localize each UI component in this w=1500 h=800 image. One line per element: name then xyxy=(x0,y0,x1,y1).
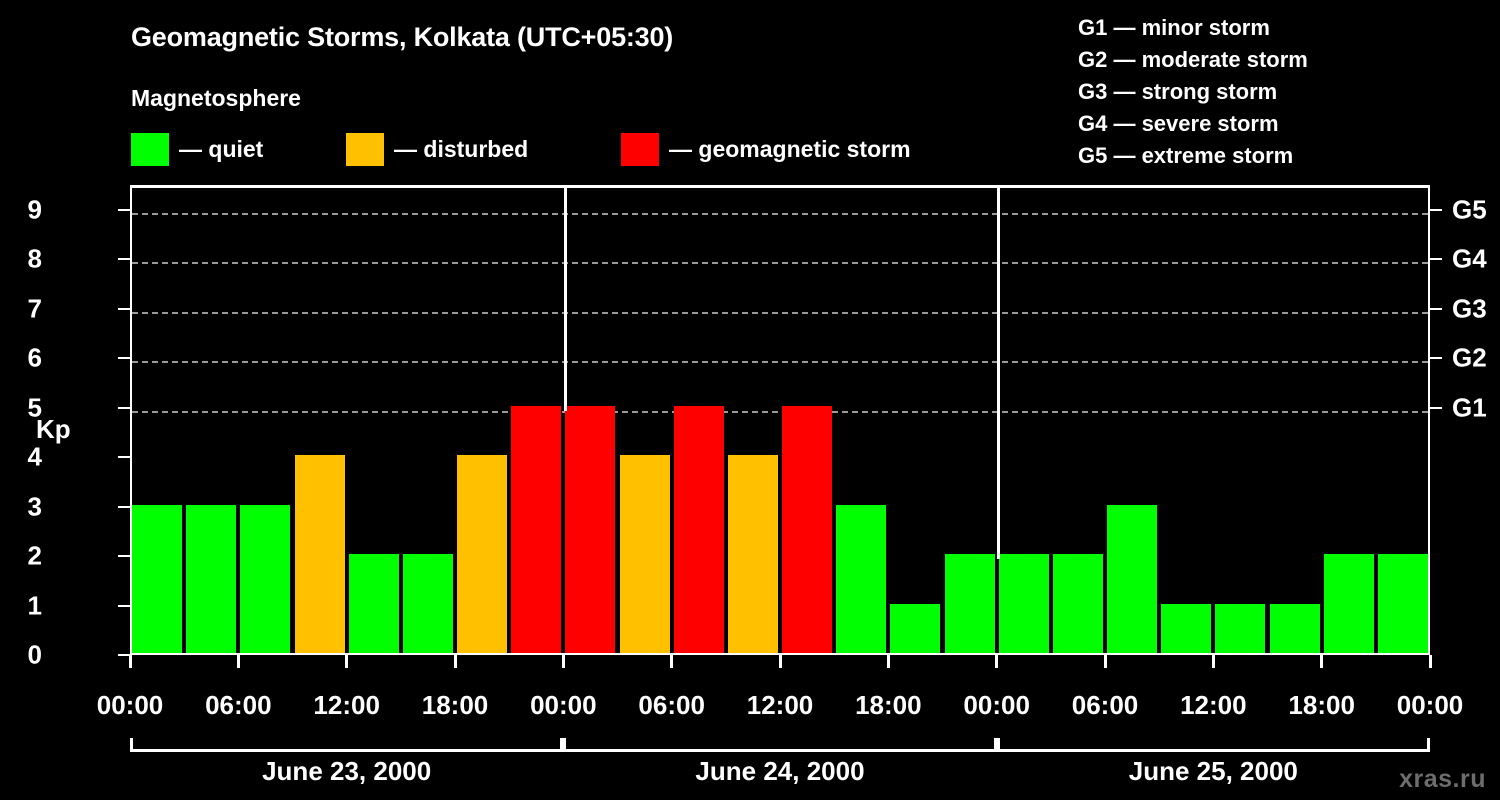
plot-area xyxy=(132,188,1428,653)
bar-kp xyxy=(1270,604,1320,653)
bar-kp xyxy=(782,406,832,653)
y-tick-label-0: 0 xyxy=(2,640,42,671)
g-scale-legend: G1 — minor stormG2 — moderate stormG3 — … xyxy=(1078,12,1308,172)
bar-kp xyxy=(403,554,453,653)
y-tick-label-8: 8 xyxy=(2,244,42,275)
x-tick-mark xyxy=(995,655,998,668)
y-tick-label-3: 3 xyxy=(2,491,42,522)
x-tick-mark xyxy=(1429,655,1432,668)
x-tick-mark xyxy=(237,655,240,668)
y-tick-mark-5 xyxy=(118,407,130,409)
bar-kp xyxy=(295,455,345,653)
x-tick-mark xyxy=(129,655,132,668)
x-tick-mark xyxy=(670,655,673,668)
y-tick-mark-6 xyxy=(118,357,130,359)
bar-kp xyxy=(565,406,615,653)
day-divider xyxy=(997,188,1000,559)
g-legend-row-g1: G1 — minor storm xyxy=(1078,12,1308,44)
bar-kp xyxy=(186,505,236,653)
watermark: xras.ru xyxy=(1399,765,1486,794)
g-tick-label-g4: G4 xyxy=(1452,244,1487,275)
y-tick-mark-4 xyxy=(118,456,130,458)
bar-kp xyxy=(349,554,399,653)
bar-kp xyxy=(1378,554,1428,653)
gridline-kp-5 xyxy=(132,411,1428,413)
y-tick-label-4: 4 xyxy=(2,442,42,473)
g-tick-label-g5: G5 xyxy=(1452,194,1487,225)
y-tick-label-1: 1 xyxy=(2,590,42,621)
y-tick-label-9: 9 xyxy=(2,194,42,225)
y-tick-mark-7 xyxy=(118,308,130,310)
x-tick-mark xyxy=(562,655,565,668)
bar-kp xyxy=(945,554,995,653)
g-tick-mark-g1 xyxy=(1430,407,1442,409)
legend-label-disturbed: — disturbed xyxy=(394,133,528,166)
x-tick-mark xyxy=(1212,655,1215,668)
bar-kp xyxy=(1107,505,1157,653)
g-legend-row-g3: G3 — strong storm xyxy=(1078,76,1308,108)
bar-kp xyxy=(132,505,182,653)
bar-kp xyxy=(1053,554,1103,653)
x-tick-mark xyxy=(454,655,457,668)
page-title: Geomagnetic Storms, Kolkata (UTC+05:30) xyxy=(131,22,673,53)
gridline-kp-9 xyxy=(132,213,1428,215)
gridline-kp-7 xyxy=(132,312,1428,314)
day-bracket xyxy=(130,738,563,752)
bar-kp xyxy=(1161,604,1211,653)
bar-kp xyxy=(674,406,724,653)
bar-kp xyxy=(620,455,670,653)
g-legend-row-g5: G5 — extreme storm xyxy=(1078,140,1308,172)
x-tick-mark xyxy=(345,655,348,668)
y-tick-mark-1 xyxy=(118,605,130,607)
day-label: June 24, 2000 xyxy=(563,754,996,788)
legend-label-quiet: — quiet xyxy=(179,133,263,166)
bar-kp xyxy=(457,455,507,653)
gridline-kp-6 xyxy=(132,361,1428,363)
day-bracket xyxy=(997,738,1430,752)
legend-swatch-geomagnetic-storm xyxy=(621,133,659,166)
g-tick-mark-g3 xyxy=(1430,308,1442,310)
day-label: June 25, 2000 xyxy=(997,754,1430,788)
g-tick-label-g1: G1 xyxy=(1452,392,1487,423)
day-label: June 23, 2000 xyxy=(130,754,563,788)
bar-kp xyxy=(836,505,886,653)
bar-kp xyxy=(1215,604,1265,653)
g-tick-mark-g4 xyxy=(1430,258,1442,260)
y-tick-mark-9 xyxy=(118,209,130,211)
plot-frame xyxy=(130,185,1430,655)
magnetosphere-label: Magnetosphere xyxy=(131,85,301,112)
bar-kp xyxy=(511,406,561,653)
y-tick-mark-8 xyxy=(118,258,130,260)
y-tick-mark-3 xyxy=(118,506,130,508)
legend-swatch-disturbed xyxy=(346,133,384,166)
g-tick-label-g2: G2 xyxy=(1452,343,1487,374)
x-tick-mark xyxy=(1320,655,1323,668)
y-tick-label-7: 7 xyxy=(2,293,42,324)
legend-swatch-quiet xyxy=(131,133,169,166)
x-tick-mark xyxy=(779,655,782,668)
g-tick-label-g3: G3 xyxy=(1452,293,1487,324)
y-tick-mark-2 xyxy=(118,555,130,557)
g-legend-row-g2: G2 — moderate storm xyxy=(1078,44,1308,76)
y-axis-title: Kp xyxy=(36,414,71,445)
gridline-kp-8 xyxy=(132,262,1428,264)
day-bracket xyxy=(563,738,996,752)
x-tick-label: 00:00 xyxy=(1360,690,1500,721)
x-tick-mark xyxy=(887,655,890,668)
bar-kp xyxy=(240,505,290,653)
bar-kp xyxy=(728,455,778,653)
g-legend-row-g4: G4 — severe storm xyxy=(1078,108,1308,140)
y-tick-label-2: 2 xyxy=(2,541,42,572)
g-tick-mark-g5 xyxy=(1430,209,1442,211)
bar-kp xyxy=(890,604,940,653)
bar-kp xyxy=(999,554,1049,653)
legend-label-geomagnetic-storm: — geomagnetic storm xyxy=(669,133,911,166)
y-tick-label-6: 6 xyxy=(2,343,42,374)
bar-kp xyxy=(1324,554,1374,653)
day-divider xyxy=(564,188,567,411)
x-tick-mark xyxy=(1104,655,1107,668)
g-tick-mark-g2 xyxy=(1430,357,1442,359)
